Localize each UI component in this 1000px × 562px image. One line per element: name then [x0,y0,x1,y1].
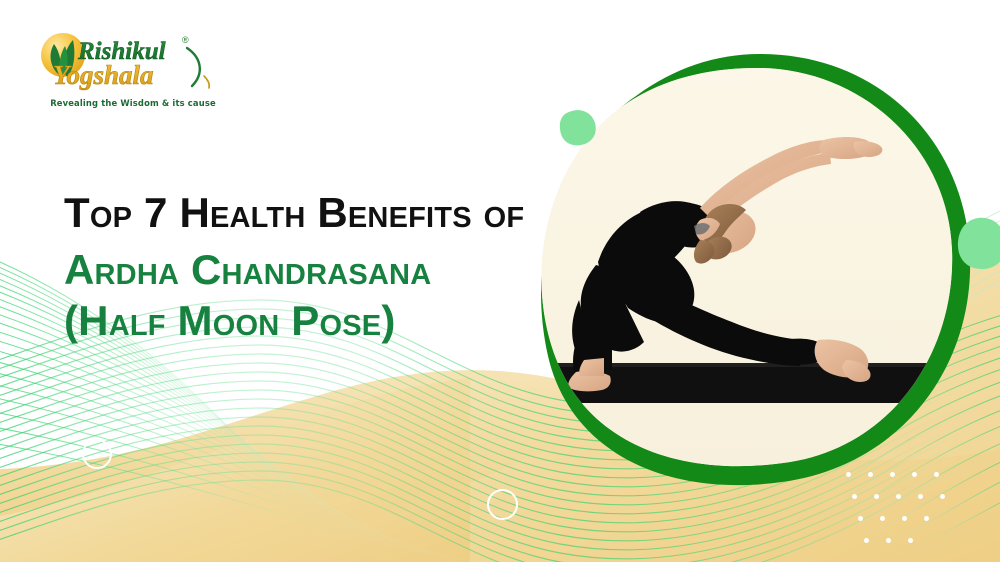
grid-dot [858,516,863,521]
headline-block: Top 7 Health Benefits of Ardha Chandrasa… [64,192,584,342]
grid-dot [924,516,929,521]
grid-dot [886,538,891,543]
logo-word-bottom: Yogshala [53,60,154,90]
accent-blob-right [958,218,1000,269]
grid-dot [934,472,939,477]
grid-dot [908,538,913,543]
grid-dot [868,472,873,477]
registered-mark-icon: ® [182,35,189,45]
grid-dot [890,472,895,477]
grid-dot [874,494,879,499]
brand-logo[interactable]: Rishikul Yogshala ® Revealing the Wisdom… [32,26,222,118]
headline-line-3: (Half Moon Pose) [64,300,584,343]
grid-dot [852,494,857,499]
logo-mark: Rishikul Yogshala ® [32,26,222,98]
decorative-ring-center [487,489,518,520]
logo-tagline: Revealing the Wisdom & its cause [48,98,218,108]
headline-line-1: Top 7 Health Benefits of [64,192,584,235]
grid-dot [918,494,923,499]
promo-banner: Rishikul Yogshala ® Revealing the Wisdom… [0,0,1000,562]
headline-line-2: Ardha Chandrasana [64,249,584,292]
swoosh-icon [187,48,200,86]
grid-dot [896,494,901,499]
grid-dot [912,472,917,477]
accent-blob-left [560,110,596,145]
grid-dot [902,516,907,521]
grid-dot [880,516,885,521]
grid-dot [940,494,945,499]
grid-dot [846,472,851,477]
grid-dot [864,538,869,543]
decorative-ring-left [82,439,112,469]
